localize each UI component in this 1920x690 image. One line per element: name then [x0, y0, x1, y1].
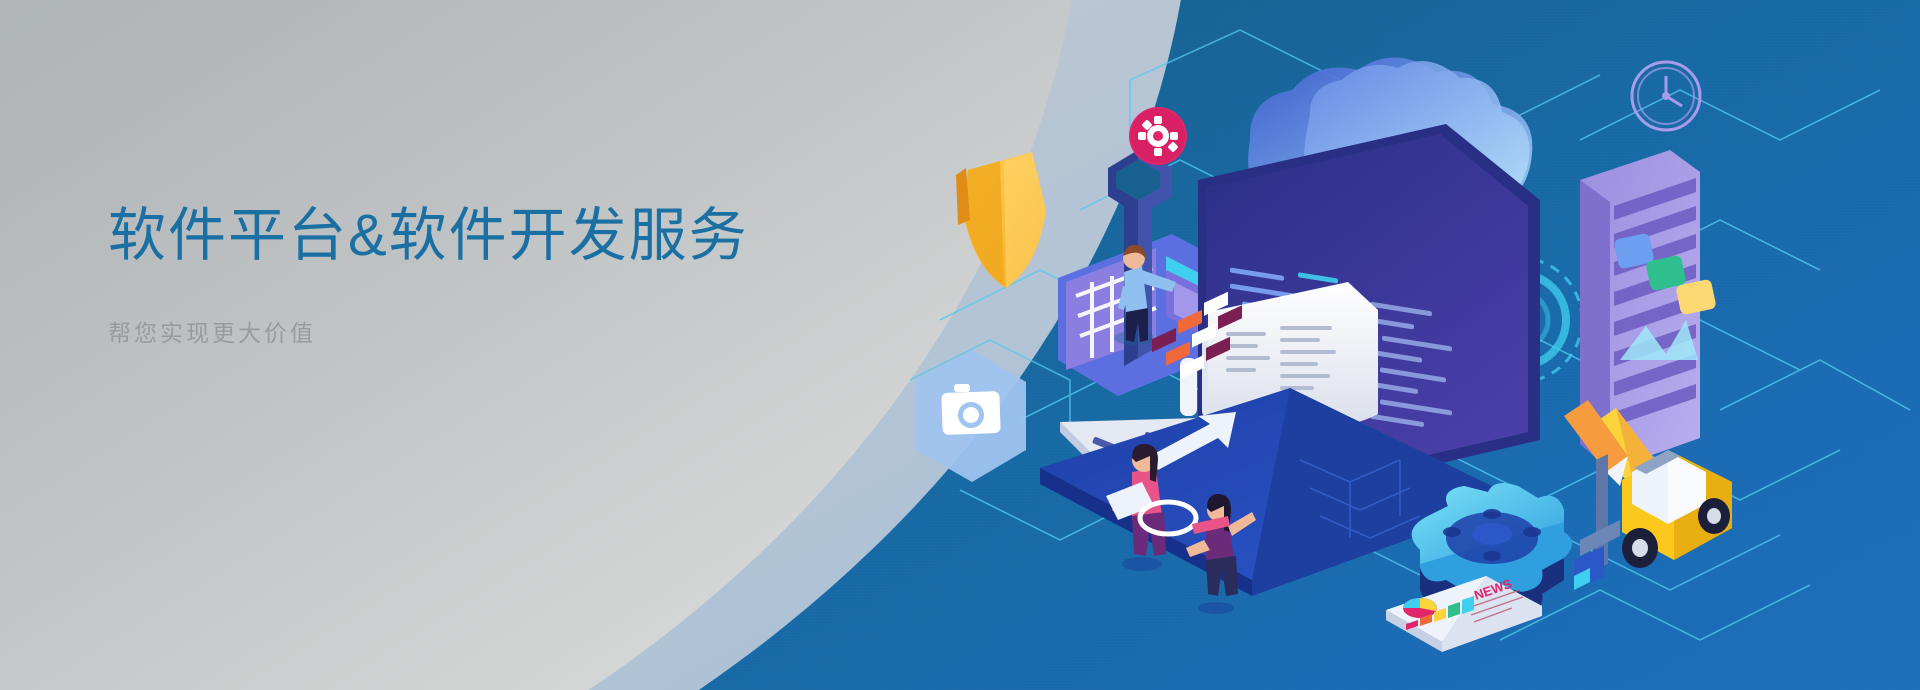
camera-icon [916, 350, 1026, 482]
page-subtitle: 帮您实现更大价值 [108, 314, 868, 348]
hero-illustration: NEWS [880, 20, 1920, 680]
forklift-vehicle [1574, 450, 1732, 590]
clock-icon [1632, 62, 1700, 130]
gear-badge-icon [1129, 107, 1187, 165]
page-title: 软件平台&软件开发服务 [108, 202, 868, 270]
hero-copy: 软件平台&软件开发服务 帮您实现更大价值 [108, 202, 868, 348]
shield-icon [956, 152, 1046, 288]
hero-banner: NEWS [0, 0, 1920, 690]
